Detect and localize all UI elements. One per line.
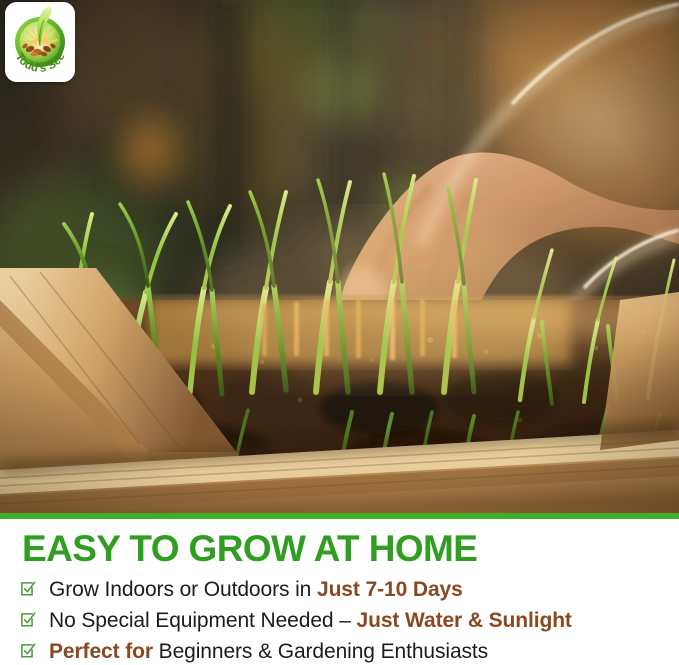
list-item-plain: Grow Indoors or Outdoors in	[49, 578, 317, 601]
hero-photo	[0, 0, 679, 513]
list-item: No Special Equipment Needed – Just Water…	[20, 605, 679, 636]
list-item-plain: No Special Equipment Needed –	[49, 609, 357, 632]
brand-logo[interactable]: Todd's Seeds	[5, 2, 75, 82]
check-square-icon	[20, 581, 37, 598]
list-item-text: Perfect for Beginners & Gardening Enthus…	[49, 640, 488, 664]
feature-list: Grow Indoors or Outdoors in Just 7-10 Da…	[20, 574, 679, 665]
page-title: EASY TO GROW AT HOME	[22, 528, 477, 570]
feature-text-block: EASY TO GROW AT HOME Grow Indoors or Out…	[0, 519, 679, 665]
check-square-icon	[20, 643, 37, 660]
check-square-icon	[20, 612, 37, 629]
list-item-highlight: Just 7-10 Days	[317, 578, 463, 601]
list-item: Grow Indoors or Outdoors in Just 7-10 Da…	[20, 574, 679, 605]
list-item-plain: Beginners & Gardening Enthusiasts	[153, 640, 488, 663]
list-item-text: No Special Equipment Needed – Just Water…	[49, 609, 572, 633]
list-item-highlight: Just Water & Sunlight	[357, 609, 572, 632]
hero-photo-artwork	[0, 0, 679, 513]
list-item-text: Grow Indoors or Outdoors in Just 7-10 Da…	[49, 578, 463, 602]
list-item: Perfect for Beginners & Gardening Enthus…	[20, 636, 679, 665]
todd-seeds-logo-icon: Todd's Seeds	[5, 2, 75, 82]
list-item-highlight: Perfect for	[49, 640, 153, 663]
product-feature-card: Todd's Seeds EASY TO GROW AT HOME Grow I…	[0, 0, 679, 665]
